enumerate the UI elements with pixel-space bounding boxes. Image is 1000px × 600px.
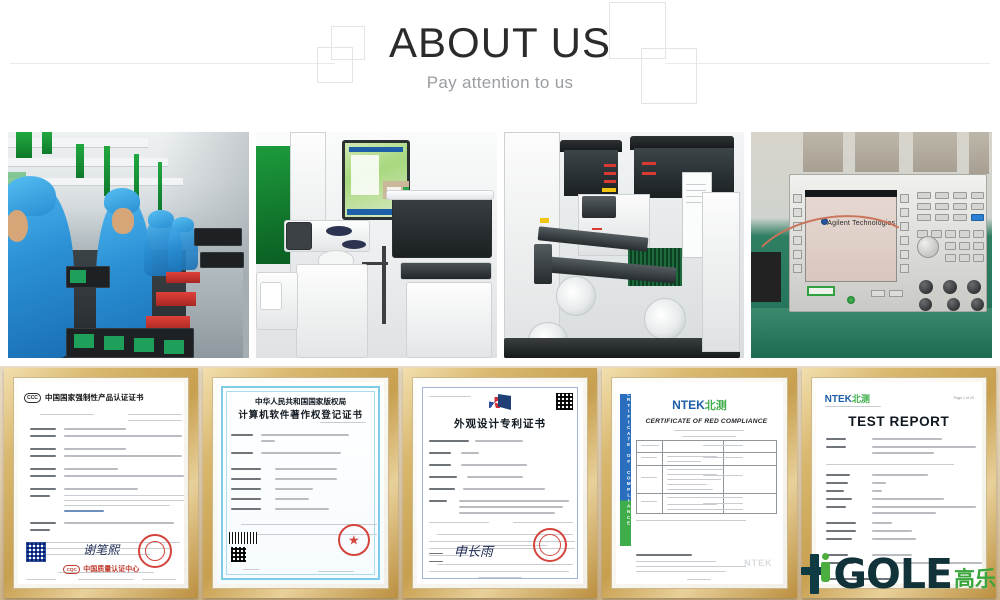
higole-wordmark: GOLE — [833, 554, 952, 594]
standards-table — [636, 440, 776, 514]
page-subtitle: Pay attention to us — [0, 72, 1000, 94]
certificate-document: CERTIFICATE OF COMPLIANCE NTEK北测 CERTIFI… — [616, 382, 782, 584]
certificate-ntek-red-compliance[interactable]: CERTIFICATE OF COMPLIANCE NTEK北测 CERTIFI… — [602, 368, 796, 598]
certificate-document: 外观设计专利证书 — [417, 382, 583, 584]
cnipa-emblem-icon — [489, 394, 511, 410]
frame-mat: 中华人民共和国国家版权局 计算机软件著作权登记证书 — [212, 377, 388, 589]
about-us-page: ABOUT US Pay attention to us — [0, 0, 1000, 600]
certificate-ccc[interactable]: CCC 中国国家强制性产品认证证书 — [4, 368, 198, 598]
certificate-title: 外观设计专利证书 — [417, 416, 583, 431]
header-title-block: ABOUT US Pay attention to us — [0, 0, 1000, 94]
certificate-document: CCC 中国国家强制性产品认证证书 — [18, 382, 184, 584]
higole-logo[interactable]: GOLE 高乐 — [801, 552, 996, 594]
star-icon: ★ — [348, 534, 360, 547]
page-header: ABOUT US Pay attention to us — [0, 0, 1000, 120]
red-seal-stamp — [138, 534, 172, 568]
certificate-title: TEST REPORT — [816, 414, 982, 429]
ntek-watermark: NTEK — [744, 558, 773, 568]
cqc-issuer: CQC 中国质量认证中心 — [63, 564, 139, 574]
qr-code — [556, 393, 573, 410]
signature: 谢笔熙 — [83, 541, 119, 558]
certificate-design-patent[interactable]: 外观设计专利证书 — [403, 368, 597, 598]
frame-mat: CERTIFICATE OF COMPLIANCE NTEK北测 CERTIFI… — [611, 377, 787, 589]
photo-agilent-test-equipment[interactable]: Agilent Technologies — [751, 132, 992, 358]
sidebar-label: CERTIFICATE OF COMPLIANCE — [620, 394, 631, 514]
certificate-title: 计算机软件著作权登记证书 — [217, 407, 383, 421]
ccc-header-row: CCC 中国国家强制性产品认证证书 — [24, 392, 178, 403]
page-label: Page 1 of 20 — [954, 396, 974, 400]
ntek-brand-text: NTEK — [672, 398, 705, 412]
cqc-badge-icon: CQC — [63, 565, 80, 574]
higole-mark-icon — [801, 552, 831, 594]
ntek-brand-cn: 北测 — [852, 394, 870, 404]
certificate-document: 中华人民共和国国家版权局 计算机软件著作权登记证书 — [217, 382, 383, 584]
red-seal-stamp — [533, 528, 567, 562]
certificate-title: 中国国家强制性产品认证证书 — [45, 392, 144, 403]
certificate-line1: 中华人民共和国国家版权局 — [217, 396, 383, 407]
ccc-mark-icon: CCC — [24, 393, 41, 403]
photo-smt-inspection-machine[interactable] — [256, 132, 497, 358]
barcode — [229, 532, 257, 544]
certificate-title: CERTIFICATE OF RED COMPLIANCE — [636, 418, 776, 425]
cqc-issuer-label: 中国质量认证中心 — [83, 564, 139, 574]
qr-code — [231, 547, 246, 562]
smt-machine-scene — [256, 132, 497, 358]
photo-pick-and-place-machines[interactable] — [504, 132, 745, 358]
red-seal-stamp: ★ — [338, 524, 370, 556]
factory-photo-gallery: Agilent Technologies — [8, 132, 992, 358]
signature: 申长雨 — [454, 541, 493, 560]
ntek-brand-text: NTEK — [825, 394, 852, 405]
ntek-logo: NTEK北测 — [672, 397, 727, 413]
frame-mat: CCC 中国国家强制性产品认证证书 — [13, 377, 189, 589]
ntek-logo: NTEK北测 — [825, 392, 870, 405]
certificate-software-copyright[interactable]: 中华人民共和国国家版权局 计算机软件著作权登记证书 — [203, 368, 397, 598]
agilent-scene: Agilent Technologies — [751, 132, 992, 358]
qr-code — [26, 542, 46, 562]
ntek-brand-cn: 北测 — [705, 400, 727, 412]
assembly-line-scene — [8, 132, 249, 358]
higole-chinese-name: 高乐 — [954, 568, 996, 592]
pick-place-scene — [504, 132, 745, 358]
photo-assembly-line[interactable] — [8, 132, 249, 358]
frame-mat: 外观设计专利证书 — [412, 377, 588, 589]
page-title: ABOUT US — [0, 20, 1000, 66]
